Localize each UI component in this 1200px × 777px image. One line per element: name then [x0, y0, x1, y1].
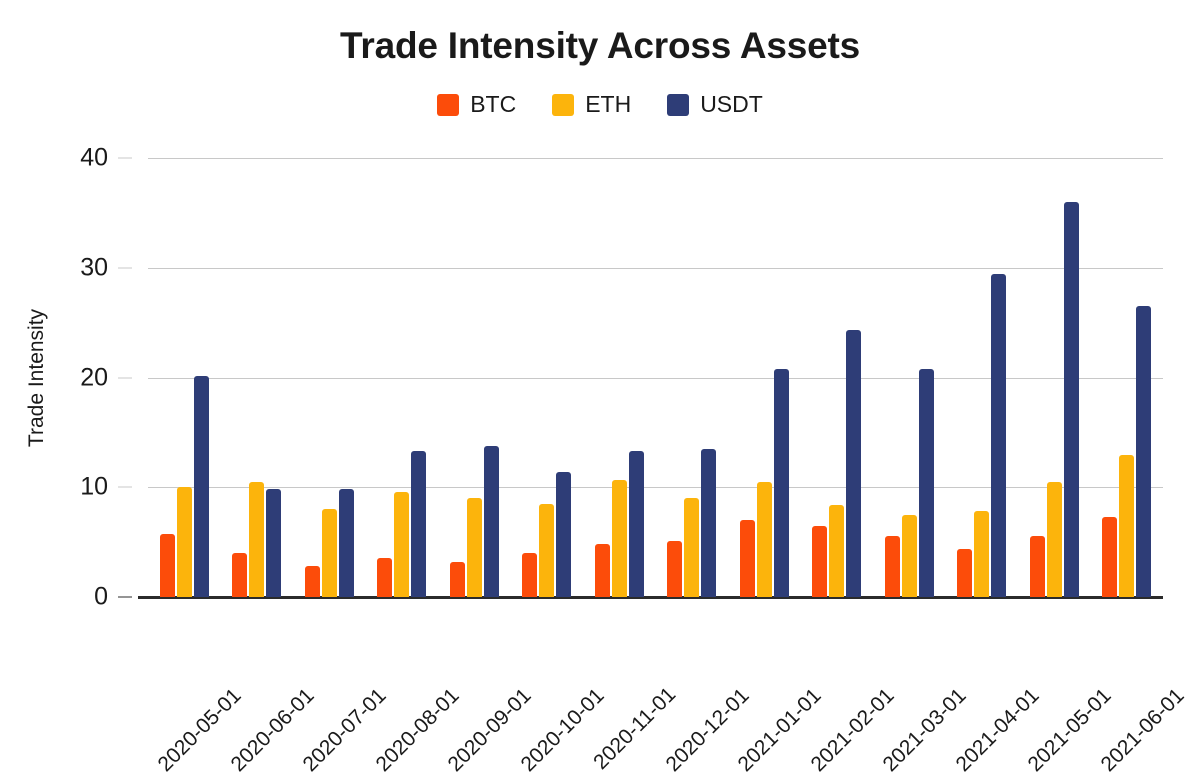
- legend-swatch-icon: [552, 94, 574, 116]
- y-tick-mark: [118, 377, 132, 378]
- bar-usdt[interactable]: [846, 330, 861, 597]
- bar-group: [511, 158, 584, 597]
- bar-usdt[interactable]: [1064, 202, 1079, 597]
- bar-group: [148, 158, 221, 597]
- x-axis-labels: 2020-05-012020-06-012020-07-012020-08-01…: [148, 600, 1163, 740]
- bar-usdt[interactable]: [484, 446, 499, 597]
- bar-usdt[interactable]: [701, 449, 716, 597]
- chart-legend: BTCETHUSDT: [0, 93, 1200, 116]
- bar-btc[interactable]: [160, 534, 175, 597]
- bar-group: [801, 158, 874, 597]
- bar-usdt[interactable]: [774, 369, 789, 597]
- bar-eth[interactable]: [249, 482, 264, 597]
- legend-item-usdt[interactable]: USDT: [667, 93, 763, 116]
- bar-eth[interactable]: [177, 487, 192, 597]
- bar-group: [946, 158, 1019, 597]
- legend-item-btc[interactable]: BTC: [437, 93, 516, 116]
- bar-btc[interactable]: [957, 549, 972, 597]
- bar-eth[interactable]: [394, 492, 409, 597]
- bar-group: [873, 158, 946, 597]
- y-tick-label: 0: [94, 583, 108, 612]
- y-tick-mark: [118, 158, 132, 159]
- bar-group: [366, 158, 439, 597]
- bar-usdt[interactable]: [1136, 306, 1151, 597]
- bar-group: [583, 158, 656, 597]
- bar-eth[interactable]: [1119, 455, 1134, 597]
- y-tick-mark: [118, 267, 132, 268]
- bar-usdt[interactable]: [266, 489, 281, 597]
- bar-usdt[interactable]: [339, 489, 354, 597]
- bar-eth[interactable]: [539, 504, 554, 597]
- bar-usdt[interactable]: [991, 274, 1006, 597]
- bar-group: [656, 158, 729, 597]
- bar-btc[interactable]: [667, 541, 682, 597]
- legend-swatch-icon: [667, 94, 689, 116]
- bar-usdt[interactable]: [194, 376, 209, 597]
- bar-chart: Trade Intensity Across Assets BTCETHUSDT…: [0, 0, 1200, 742]
- y-axis-ticks: 010203040: [0, 158, 132, 597]
- bar-btc[interactable]: [305, 566, 320, 597]
- y-tick-mark: [118, 487, 132, 488]
- bar-eth[interactable]: [612, 480, 627, 597]
- bar-eth[interactable]: [902, 515, 917, 597]
- legend-item-eth[interactable]: ETH: [552, 93, 631, 116]
- bar-btc[interactable]: [595, 544, 610, 597]
- bar-eth[interactable]: [974, 511, 989, 597]
- y-tick-label: 20: [80, 363, 108, 392]
- y-tick-label: 40: [80, 144, 108, 173]
- plot-area: [148, 158, 1163, 597]
- y-tick-label: 10: [80, 473, 108, 502]
- bar-group: [438, 158, 511, 597]
- legend-label: USDT: [700, 93, 763, 116]
- bar-btc[interactable]: [812, 526, 827, 597]
- legend-label: ETH: [585, 93, 631, 116]
- bar-eth[interactable]: [1047, 482, 1062, 597]
- bar-group: [293, 158, 366, 597]
- bar-btc[interactable]: [740, 520, 755, 597]
- y-tick-label: 30: [80, 253, 108, 282]
- bar-btc[interactable]: [522, 553, 537, 597]
- bar-btc[interactable]: [232, 553, 247, 597]
- bar-btc[interactable]: [1102, 517, 1117, 597]
- bar-btc[interactable]: [377, 558, 392, 598]
- bar-usdt[interactable]: [629, 451, 644, 597]
- bar-eth[interactable]: [757, 482, 772, 597]
- chart-title: Trade Intensity Across Assets: [0, 26, 1200, 67]
- bar-eth[interactable]: [829, 505, 844, 597]
- bar-btc[interactable]: [450, 562, 465, 597]
- bar-group: [1018, 158, 1091, 597]
- bar-btc[interactable]: [1030, 536, 1045, 597]
- legend-label: BTC: [470, 93, 516, 116]
- bar-btc[interactable]: [885, 536, 900, 597]
- y-tick-mark: [118, 597, 132, 598]
- bar-usdt[interactable]: [919, 369, 934, 597]
- bar-group: [728, 158, 801, 597]
- bar-usdt[interactable]: [556, 472, 571, 597]
- bar-eth[interactable]: [684, 498, 699, 597]
- bar-group: [221, 158, 294, 597]
- bar-eth[interactable]: [467, 498, 482, 597]
- bar-usdt[interactable]: [411, 451, 426, 597]
- bar-eth[interactable]: [322, 509, 337, 597]
- legend-swatch-icon: [437, 94, 459, 116]
- bar-group: [1091, 158, 1164, 597]
